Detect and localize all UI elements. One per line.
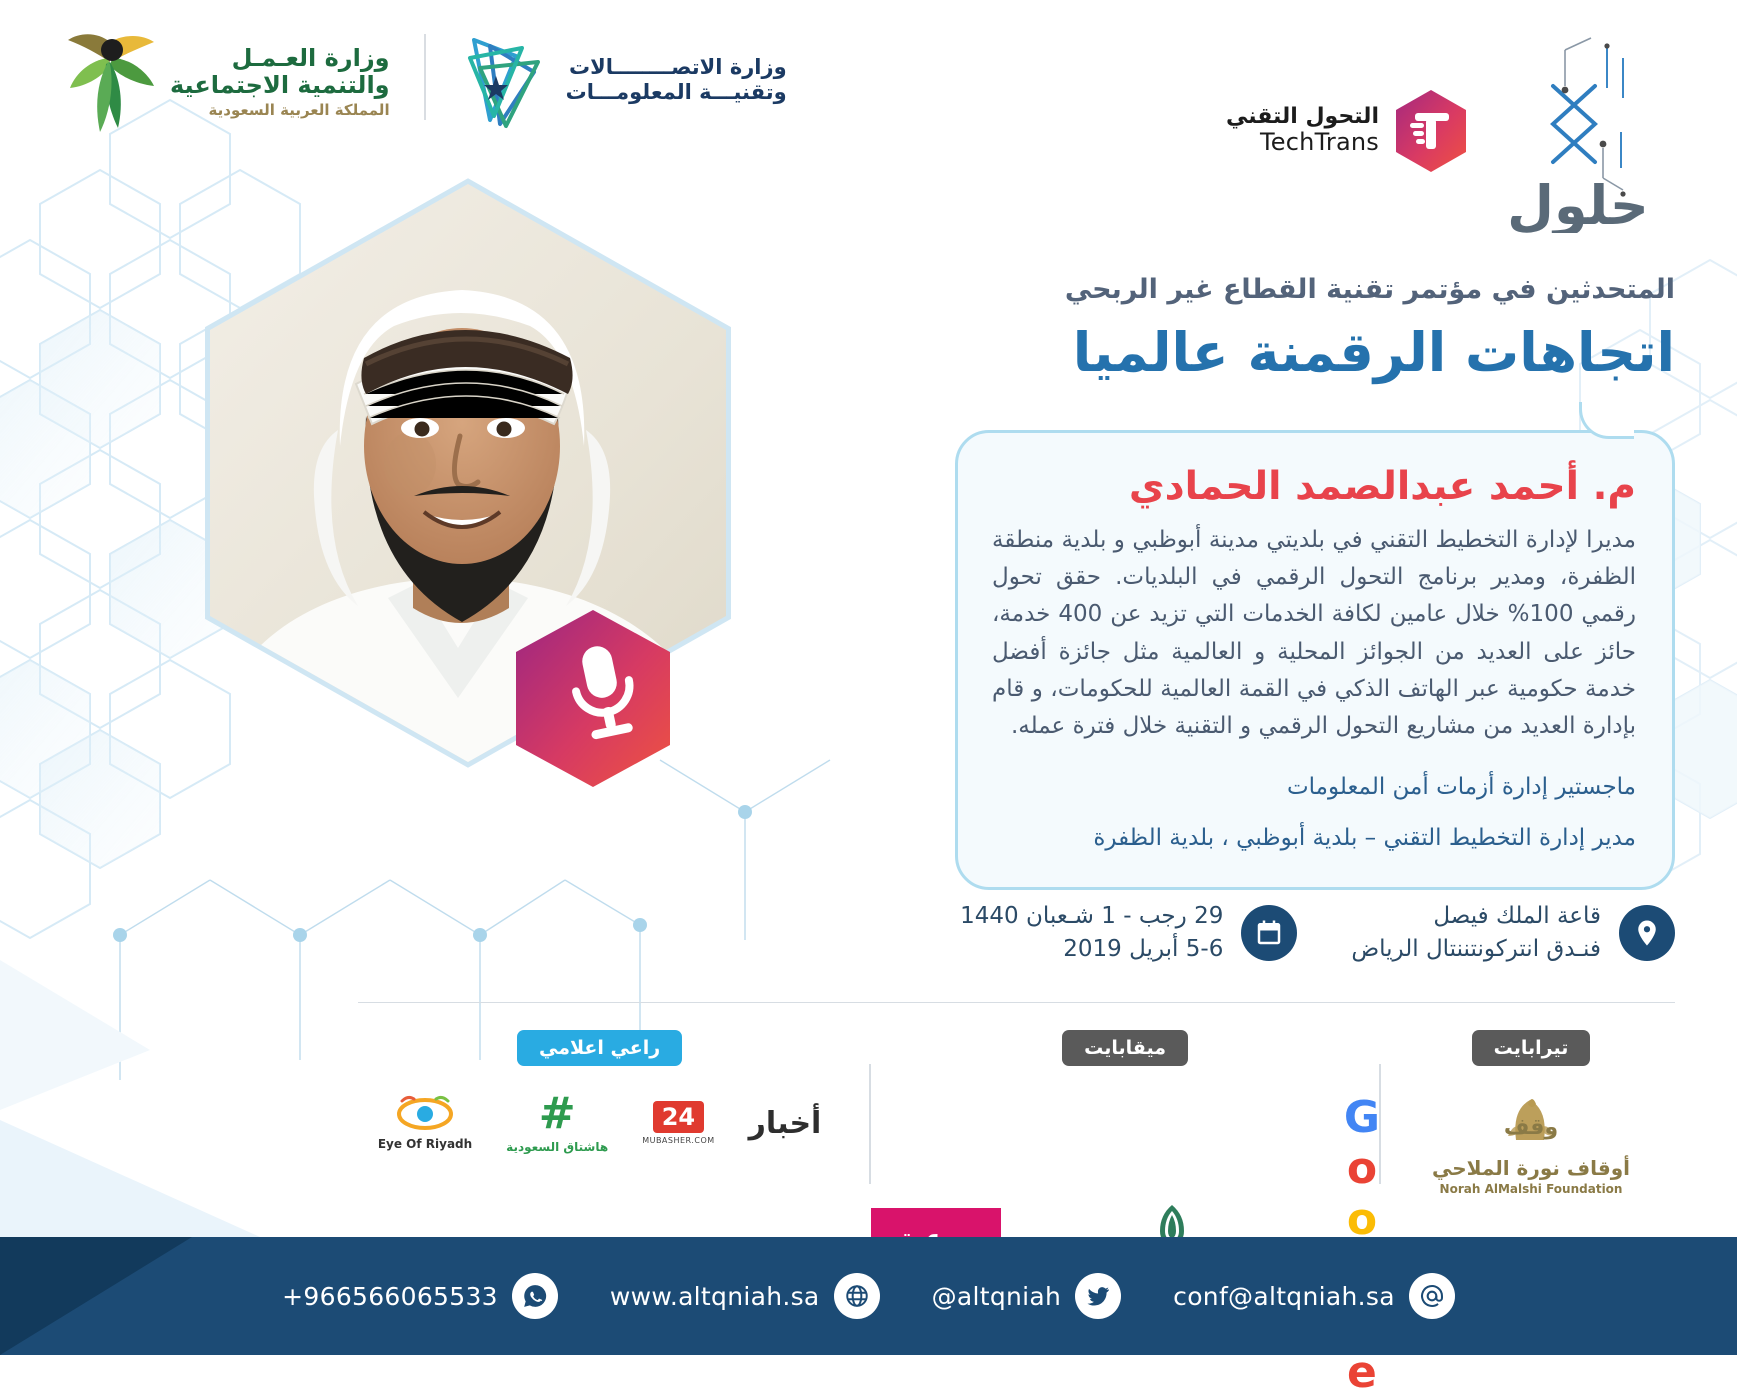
whatsapp-icon bbox=[512, 1273, 558, 1319]
logo-group-right: حلول bbox=[1226, 28, 1677, 233]
location-pin-icon bbox=[1619, 905, 1675, 961]
24-news-logo: 24 MUBASHER.COM bbox=[642, 1101, 714, 1145]
microphone-badge bbox=[508, 606, 678, 791]
hashtag-mark-icon: # bbox=[539, 1092, 576, 1136]
moc-emblem-icon bbox=[460, 28, 552, 132]
footer-twitter-text: @altqniah bbox=[932, 1282, 1062, 1311]
footer-email[interactable]: conf@altqniah.sa bbox=[1147, 1273, 1481, 1319]
footer-website-text: www.altqniah.sa bbox=[610, 1282, 820, 1311]
globe-icon bbox=[834, 1273, 880, 1319]
waqf-arabic-name: أوقاف نورة الملاحي bbox=[1432, 1156, 1630, 1180]
mlsd-palm-icon bbox=[62, 28, 158, 136]
svg-text:وقف: وقف bbox=[1504, 1115, 1558, 1140]
eye-of-riyadh-logo: Eye Of Riyadh bbox=[378, 1095, 472, 1151]
waqf-mark-icon: وقف bbox=[1498, 1092, 1564, 1150]
footer-email-text: conf@altqniah.sa bbox=[1173, 1282, 1395, 1311]
logo-divider bbox=[424, 34, 426, 120]
venue-line-1: قاعة الملك فيصل bbox=[1351, 900, 1601, 933]
date-line-1: 29 رجب - 1 شـعبان 1440 bbox=[960, 900, 1223, 933]
techtrans-logo: التحول التقني TechTrans bbox=[1226, 89, 1469, 173]
holol-brand-logo: حلول bbox=[1503, 28, 1653, 233]
footer-phone[interactable]: +966566065533 bbox=[256, 1273, 584, 1319]
techtrans-hexagon-icon bbox=[1393, 89, 1469, 173]
footer-twitter[interactable]: @altqniah bbox=[906, 1273, 1148, 1319]
eye-of-riyadh-english-name: Eye Of Riyadh bbox=[378, 1137, 472, 1151]
footer-website[interactable]: www.altqniah.sa bbox=[584, 1273, 906, 1319]
moc-line-2: وتقنيـــة المعلومـــات bbox=[566, 80, 787, 105]
section-divider bbox=[358, 1002, 1675, 1003]
24-logo-mark: 24 bbox=[653, 1101, 704, 1133]
speaker-bio: مديرا لإدارة التخطيط التقني في بلديتي مد… bbox=[992, 522, 1636, 746]
footer-contact-bar: +966566065533 www.altqniah.sa @altqniah … bbox=[0, 1237, 1737, 1355]
conference-kicker: المتحدثين في مؤتمر تقنية القطاع غير الرب… bbox=[975, 272, 1675, 307]
date-line-2: 5-6 أبريل 2019 bbox=[960, 933, 1223, 966]
techtrans-english-label: TechTrans bbox=[1226, 129, 1379, 157]
eye-icon bbox=[394, 1095, 456, 1133]
speaker-name: م. أحمد عبدالصمد الحمادي bbox=[992, 463, 1636, 512]
24-logo-sub: MUBASHER.COM bbox=[642, 1136, 714, 1145]
mlsd-line-2: والتنمية الاجتماعية bbox=[170, 72, 390, 99]
waqf-english-name: Norah AlMalshi Foundation bbox=[1440, 1182, 1623, 1196]
logo-group-left: وزارة الاتصــــــــالات وتقنيـــة المعلو… bbox=[62, 28, 787, 136]
headline-block: المتحدثين في مؤتمر تقنية القطاع غير الرب… bbox=[975, 272, 1675, 385]
sponsor-tier-badge: ميقابايت bbox=[1062, 1030, 1188, 1066]
mlsd-line-1: وزارة العـمـل bbox=[170, 45, 390, 72]
footer-phone-text: +966566065533 bbox=[282, 1282, 498, 1311]
sponsor-tier-badge: راعي اعلامي bbox=[517, 1030, 682, 1066]
footer-corner-accent bbox=[0, 1237, 300, 1355]
sponsor-tier-media: راعي اعلامي أخبار 24 MUBASHER.COM # هاشت… bbox=[330, 1030, 869, 1154]
speaker-credential-2: مدير إدارة التخطيط التقني – بلدية أبوظبي… bbox=[992, 820, 1636, 857]
techtrans-arabic-label: التحول التقني bbox=[1226, 104, 1379, 129]
moc-line-1: وزارة الاتصــــــــالات bbox=[566, 55, 787, 80]
logo-bar: حلول bbox=[0, 28, 1737, 188]
hashtag-sub-name: هاشتاق السعودية bbox=[506, 1140, 608, 1154]
akhbar-logo: أخبار bbox=[749, 1106, 822, 1141]
venue-line-2: فنـدق انتركونتننتال الرياض bbox=[1351, 933, 1601, 966]
twitter-icon bbox=[1075, 1273, 1121, 1319]
venue-block: قاعة الملك فيصل فنـدق انتركونتننتال الري… bbox=[1351, 900, 1675, 965]
poster-root: حلول bbox=[0, 0, 1737, 1355]
svg-text:حلول: حلول bbox=[1507, 174, 1649, 233]
ministry-of-labor-logo: وزارة العـمـل والتنمية الاجتماعية المملك… bbox=[62, 28, 390, 136]
ministry-of-communications-logo: وزارة الاتصــــــــالات وتقنيـــة المعلو… bbox=[460, 28, 787, 132]
sponsors-section: تيرابايت وقف أوقاف نورة الملاحي Norah Al… bbox=[330, 1030, 1681, 1200]
event-meta-row: قاعة الملك فيصل فنـدق انتركونتننتال الري… bbox=[935, 900, 1675, 965]
speaker-credential-1: ماجستير إدارة أزمات أمن المعلومات bbox=[992, 769, 1636, 806]
sponsor-tier-badge: تيرابايت bbox=[1472, 1030, 1591, 1066]
date-block: 29 رجب - 1 شـعبان 1440 5-6 أبريل 2019 bbox=[960, 900, 1297, 965]
sponsor-tier-terabyte: تيرابايت وقف أوقاف نورة الملاحي Norah Al… bbox=[1381, 1030, 1681, 1196]
page-title: اتجاهات الرقمنة عالميا bbox=[975, 321, 1675, 385]
norah-almalhi-foundation-logo: وقف أوقاف نورة الملاحي Norah AlMalshi Fo… bbox=[1432, 1092, 1630, 1196]
mlsd-line-3: المملكة العربية السعودية bbox=[170, 102, 390, 119]
at-icon bbox=[1409, 1273, 1455, 1319]
speaker-info-card: م. أحمد عبدالصمد الحمادي مديرا لإدارة ال… bbox=[955, 430, 1675, 890]
calendar-icon bbox=[1241, 905, 1297, 961]
saudi-hashtag-logo: # هاشتاق السعودية bbox=[506, 1092, 608, 1154]
